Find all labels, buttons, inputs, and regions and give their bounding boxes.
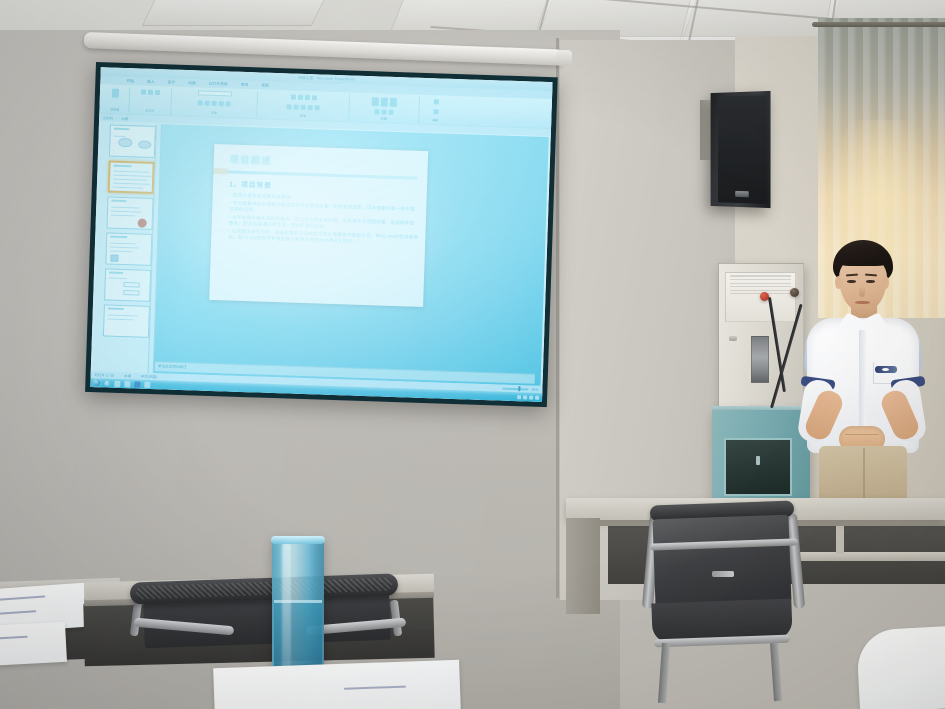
line-spacing-icon[interactable] (311, 95, 316, 100)
ear-left (835, 276, 842, 289)
office-chair-right[interactable] (624, 497, 814, 709)
ribbon-group-slides-label: 幻灯片 (145, 109, 154, 113)
nose (859, 286, 865, 297)
tab-review[interactable]: 审阅 (241, 82, 249, 87)
tab-view[interactable]: 视图 (261, 83, 269, 88)
theme-name: 水滴 (124, 373, 131, 378)
system-tray[interactable] (517, 395, 539, 400)
slide-thumbnail[interactable]: 5 (104, 268, 151, 302)
microphone-head (760, 292, 769, 301)
tab-animations[interactable]: 动画 (188, 81, 196, 86)
ribbon-group-clipboard-label: 剪贴板 (110, 108, 119, 112)
ime-icon[interactable] (529, 395, 533, 399)
desk-right-leg (566, 518, 600, 614)
pane-tab-outline[interactable]: 大纲 (121, 116, 128, 121)
curtain-rod (812, 22, 945, 27)
save-icon[interactable] (134, 381, 140, 387)
tab-design[interactable]: 设计 (167, 80, 175, 85)
lectern-display (751, 336, 769, 383)
tab-insert[interactable]: 插入 (147, 79, 155, 84)
slide-heading: 1、项目背景 (229, 179, 272, 190)
shape-arrow-icon[interactable] (390, 98, 397, 107)
align-center-icon[interactable] (294, 105, 299, 110)
slide-thumbnail-pane[interactable]: 1 2 (93, 122, 157, 373)
wall-corner (556, 38, 559, 598)
numbering-icon[interactable] (297, 95, 302, 100)
speaker-grille (718, 95, 767, 204)
ribbon-group-drawing-label: 绘图 (381, 116, 387, 120)
slide-thumbnail[interactable]: 3 (106, 196, 153, 230)
current-slide[interactable]: 项目概述 1、项目背景 饮用水源安全问题日益突出。 不论是集中供水还是分散式供水… (209, 144, 428, 307)
lectern-door-handle[interactable] (756, 456, 760, 465)
projection-screen: 项目汇报 - Microsoft PowerPoint 开始 插入 设计 动画 … (85, 62, 558, 407)
bullets-icon[interactable] (290, 94, 295, 99)
chair-leg-right (770, 643, 782, 701)
zoom-controls[interactable]: 66% (503, 386, 539, 391)
smartart-icon[interactable] (315, 105, 320, 110)
font-color-icon[interactable] (226, 101, 231, 106)
wall-speaker (711, 91, 771, 208)
layout-icon[interactable] (148, 90, 153, 95)
ribbon-group-font-label: 字体 (211, 111, 217, 115)
paper-document-front[interactable] (213, 660, 461, 709)
ribbon-group-paragraph[interactable]: 段落 (257, 91, 350, 120)
lectern-door[interactable] (724, 438, 792, 496)
zoom-level: 66% (532, 387, 539, 391)
columns-icon[interactable] (308, 105, 313, 110)
find-icon[interactable] (433, 99, 438, 104)
slide-thumbnail[interactable]: 1 (109, 124, 156, 158)
slide-thumbnail[interactable]: 6 (103, 304, 150, 338)
paper-document-right[interactable] (856, 625, 945, 709)
speaker-badge (735, 191, 749, 197)
network-icon[interactable] (523, 395, 527, 399)
underline-icon[interactable] (212, 101, 217, 106)
bold-icon[interactable] (198, 100, 203, 105)
slide-editing-pane[interactable]: 项目概述 1、项目背景 饮用水源安全问题日益突出。 不论是集中供水还是分散式供水… (149, 124, 549, 386)
volume-icon[interactable] (517, 395, 521, 399)
indent-icon[interactable] (304, 95, 309, 100)
paste-icon[interactable] (112, 89, 119, 98)
shirt-logo (875, 366, 897, 373)
slide-body-text: 饮用水源安全问题日益突出。 不论是集中供水还是分散式供水方式都存在着一定的安全隐… (228, 193, 420, 249)
screen-housing-end-cap (556, 50, 573, 67)
ie-icon[interactable] (104, 380, 110, 386)
clock-icon[interactable] (535, 395, 539, 399)
slide-divider-bar (227, 170, 417, 179)
slide-title-accent (213, 168, 227, 174)
replace-icon[interactable] (433, 109, 438, 114)
new-slide-icon[interactable] (141, 90, 146, 95)
align-left-icon[interactable] (287, 104, 292, 109)
start-button-icon[interactable] (93, 379, 100, 386)
powerpoint-window: 项目汇报 - Microsoft PowerPoint 开始 插入 设计 动画 … (90, 67, 552, 402)
chair-badge (712, 571, 734, 577)
shape-effects-icon[interactable] (388, 110, 393, 115)
cup-rim (271, 536, 325, 544)
ribbon-group-editing[interactable]: 编辑 (419, 97, 452, 124)
hair-fringe (835, 244, 891, 266)
paper-document-left-2[interactable] (0, 622, 67, 666)
chair-backrest (653, 515, 792, 608)
slide-title: 项目概述 (230, 152, 272, 166)
ribbon-group-paragraph-label: 段落 (300, 114, 306, 118)
pane-tab-slides[interactable]: 幻灯片 (103, 115, 113, 120)
shape-outline-icon[interactable] (381, 109, 386, 114)
shape-rect-icon[interactable] (381, 97, 388, 106)
shape-fill-icon[interactable] (374, 109, 379, 114)
classroom-presentation-photo: 项目汇报 - Microsoft PowerPoint 开始 插入 设计 动画 … (0, 0, 945, 709)
ribbon-group-drawing[interactable]: 绘图 (349, 94, 420, 122)
lectern-knob[interactable] (729, 336, 737, 341)
cup-highlight (282, 542, 291, 670)
ear-right (882, 276, 889, 289)
italic-icon[interactable] (205, 101, 210, 106)
blue-tumbler-cup[interactable] (272, 536, 324, 678)
media-icon[interactable] (114, 380, 120, 386)
shadow-icon[interactable] (219, 101, 224, 106)
ribbon-group-clipboard[interactable]: 剪贴板 (101, 86, 130, 113)
ribbon-group-slides[interactable]: 幻灯片 (129, 87, 172, 114)
tab-home[interactable]: 开始 (126, 79, 134, 84)
align-right-icon[interactable] (301, 105, 306, 110)
chair-leg-left (658, 643, 670, 703)
font-name-box[interactable] (197, 90, 231, 96)
tab-slideshow[interactable]: 幻灯片放映 (209, 81, 228, 87)
ribbon-group-font[interactable]: 字体 (171, 89, 258, 118)
desk-divider (836, 524, 844, 554)
ribbon-group-editing-label: 编辑 (432, 118, 438, 122)
powerpoint-icon[interactable] (144, 381, 150, 387)
shape-oval-icon[interactable] (372, 97, 379, 106)
zoom-slider[interactable] (503, 387, 529, 390)
slide-thumbnail[interactable]: 4 (105, 232, 152, 266)
presenter (795, 240, 930, 515)
slide-thumbnail-selected[interactable]: 2 (108, 160, 155, 194)
folder-icon[interactable] (124, 381, 130, 387)
window-title: 项目汇报 - Microsoft PowerPoint (298, 76, 355, 83)
reset-icon[interactable] (155, 90, 160, 95)
language-indicator[interactable]: 中文(中国) (141, 374, 157, 380)
slide-indicator: 幻灯片 2 / 18 (95, 372, 115, 378)
